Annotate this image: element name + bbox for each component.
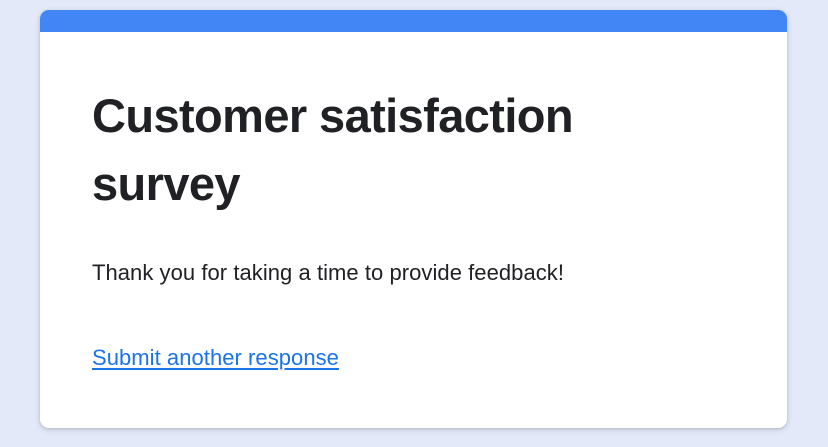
card-body: Customer satisfaction survey Thank you f… [40, 32, 787, 428]
card-header-accent-bar [40, 10, 787, 32]
submit-another-response-link[interactable]: Submit another response [92, 344, 339, 372]
confirmation-card: Customer satisfaction survey Thank you f… [40, 10, 787, 428]
page-title: Customer satisfaction survey [92, 82, 732, 218]
survey-confirmation-page: Customer satisfaction survey Thank you f… [0, 0, 828, 447]
confirmation-message: Thank you for taking a time to provide f… [92, 218, 735, 288]
